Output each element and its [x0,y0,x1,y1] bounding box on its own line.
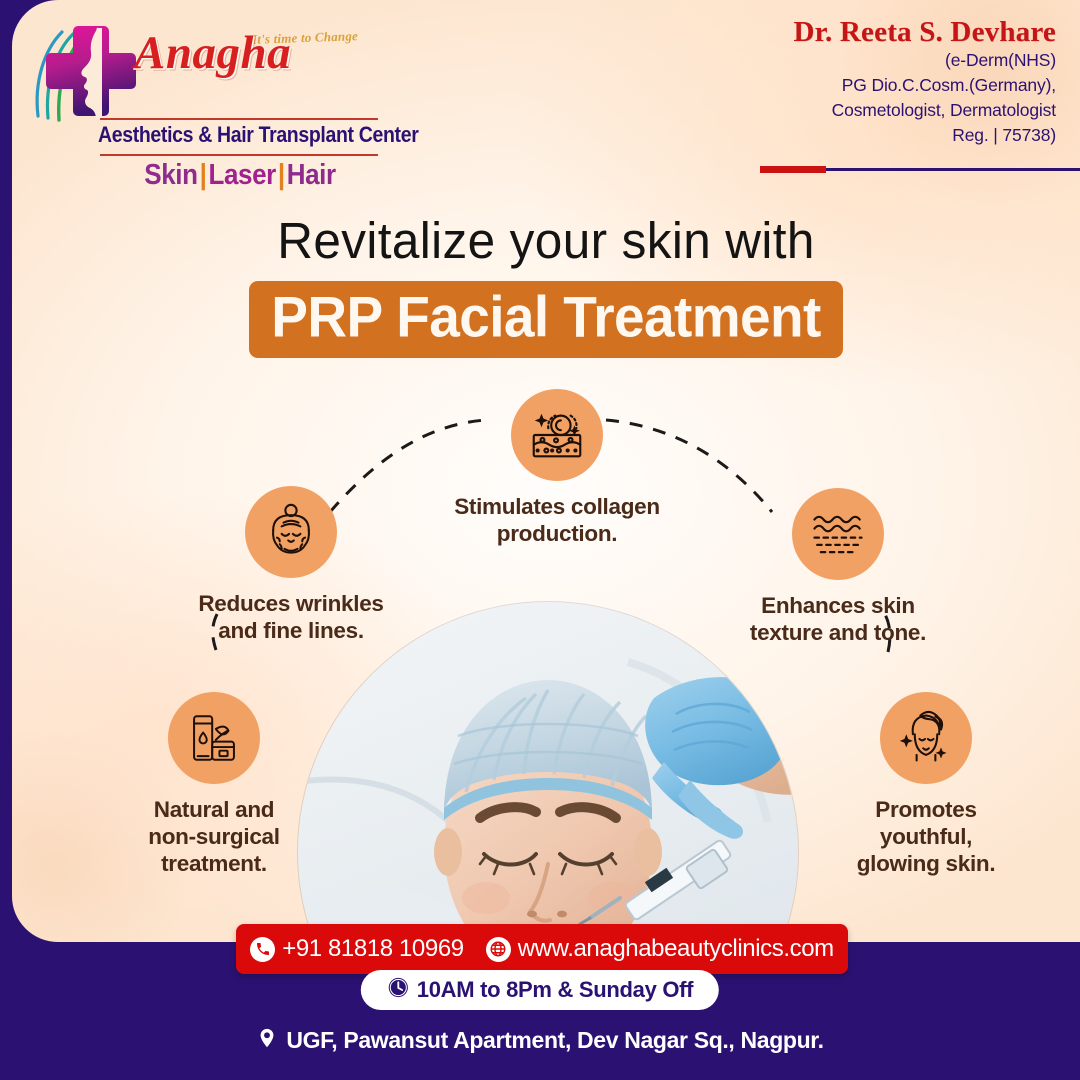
hours-text: 10AM to 8Pm & Sunday Off [417,977,693,1003]
benefit-youthful: Promotes youthful, glowing skin. [812,692,1040,878]
benefit-label: Stimulates collagen production. [429,493,685,547]
main-card: It's time to Change Anagha Aesthetics & … [12,0,1080,942]
service-hair: Hair [287,157,336,191]
service-skin: Skin [144,157,197,191]
medical-cross-woman-face-logo [32,20,138,128]
doctor-credential-line: PG Dio.C.Cosm.(Germany), [676,73,1056,98]
benefit-collagen: Stimulates collagen production. [429,389,685,547]
doctor-credential-line: Cosmetologist, Dermatologist [676,98,1056,123]
prp-facial-illustration [298,602,798,942]
doctor-credentials-block: Dr. Reeta S. Devhare (e-Derm(NHS) PG Dio… [676,16,1056,148]
doctor-credential-line: (e-Derm(NHS) [676,48,1056,73]
benefit-label: Natural and non-surgical treatment. [104,796,324,878]
poster-root: It's time to Change Anagha Aesthetics & … [0,0,1080,1080]
headline-block: Revitalize your skin with PRP Facial Tre… [12,214,1080,358]
headline-top-line: Revitalize your skin with [28,214,1064,268]
glowing-woman-face-icon [880,692,972,784]
cream-tube-leaf-icon [168,692,260,784]
doctor-name: Dr. Reeta S. Devhare [676,16,1056,48]
clinic-logo-block: It's time to Change Anagha Aesthetics & … [26,14,386,178]
footer: 10AM to 8Pm & Sunday Off UGF, Pawansut A… [0,942,1080,1080]
divider-red-segment [760,166,826,173]
brand-name: Anagha [134,30,364,77]
benefit-wrinkles: Reduces wrinkles and fine lines. [168,486,414,644]
doctor-credential-line: Reg. | 75738) [676,123,1056,148]
service-sep-2: | [276,157,287,191]
header-divider [760,166,1080,173]
elderly-face-wrinkles-icon [245,486,337,578]
collagen-skin-layer-icon [511,389,603,481]
header: It's time to Change Anagha Aesthetics & … [12,0,1080,182]
brand-subtitle: Aesthetics & Hair Transplant Center [98,122,382,148]
headline-band-text: PRP Facial Treatment [271,288,820,345]
address-text: UGF, Pawansut Apartment, Dev Nagar Sq., … [286,1027,823,1054]
benefit-texture: Enhances skin texture and tone. [712,488,964,646]
skin-texture-waves-icon [792,488,884,580]
service-laser: Laser [208,157,275,191]
benefit-label: Enhances skin texture and tone. [712,592,964,646]
divider-blue-segment [826,168,1080,171]
benefit-label: Promotes youthful, glowing skin. [812,796,1040,878]
benefit-natural: Natural and non-surgical treatment. [104,692,324,878]
brand-divider-bottom [100,154,378,156]
brand-divider-top [100,118,378,120]
hours-pill: 10AM to 8Pm & Sunday Off [361,970,719,1010]
location-pin-icon [256,1026,278,1055]
brand-services: Skin|Laser|Hair [98,157,382,192]
service-sep-1: | [198,157,209,191]
headline-band: PRP Facial Treatment [249,281,842,358]
benefit-label: Reduces wrinkles and fine lines. [168,590,414,644]
clock-icon [387,976,410,1004]
address-row: UGF, Pawansut Apartment, Dev Nagar Sq., … [0,1026,1080,1055]
treatment-photo [298,602,798,942]
